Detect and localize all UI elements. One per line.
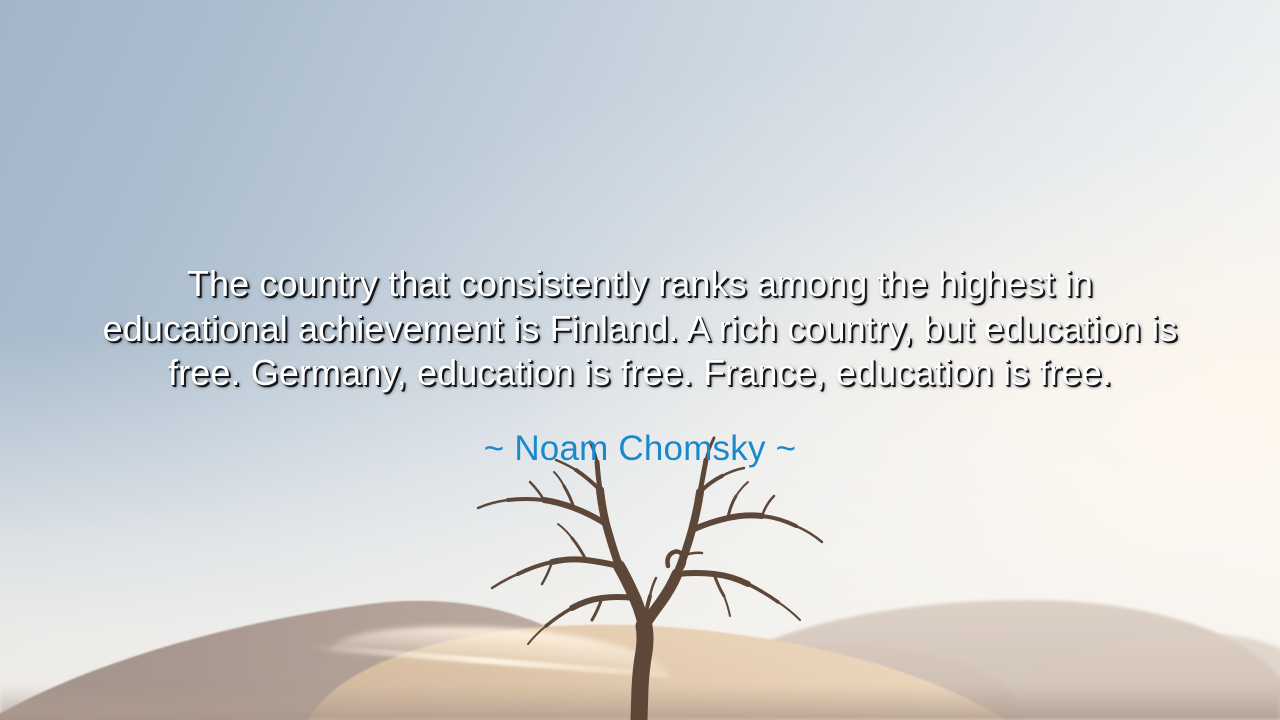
quote-author: ~ Noam Chomsky ~: [100, 396, 1180, 470]
quote-wallpaper: The country that consistently ranks amon…: [0, 0, 1280, 720]
dune-foreground-shade: [0, 686, 1280, 720]
quote-text: The country that consistently ranks amon…: [100, 262, 1180, 396]
quote-block: The country that consistently ranks amon…: [0, 262, 1280, 470]
